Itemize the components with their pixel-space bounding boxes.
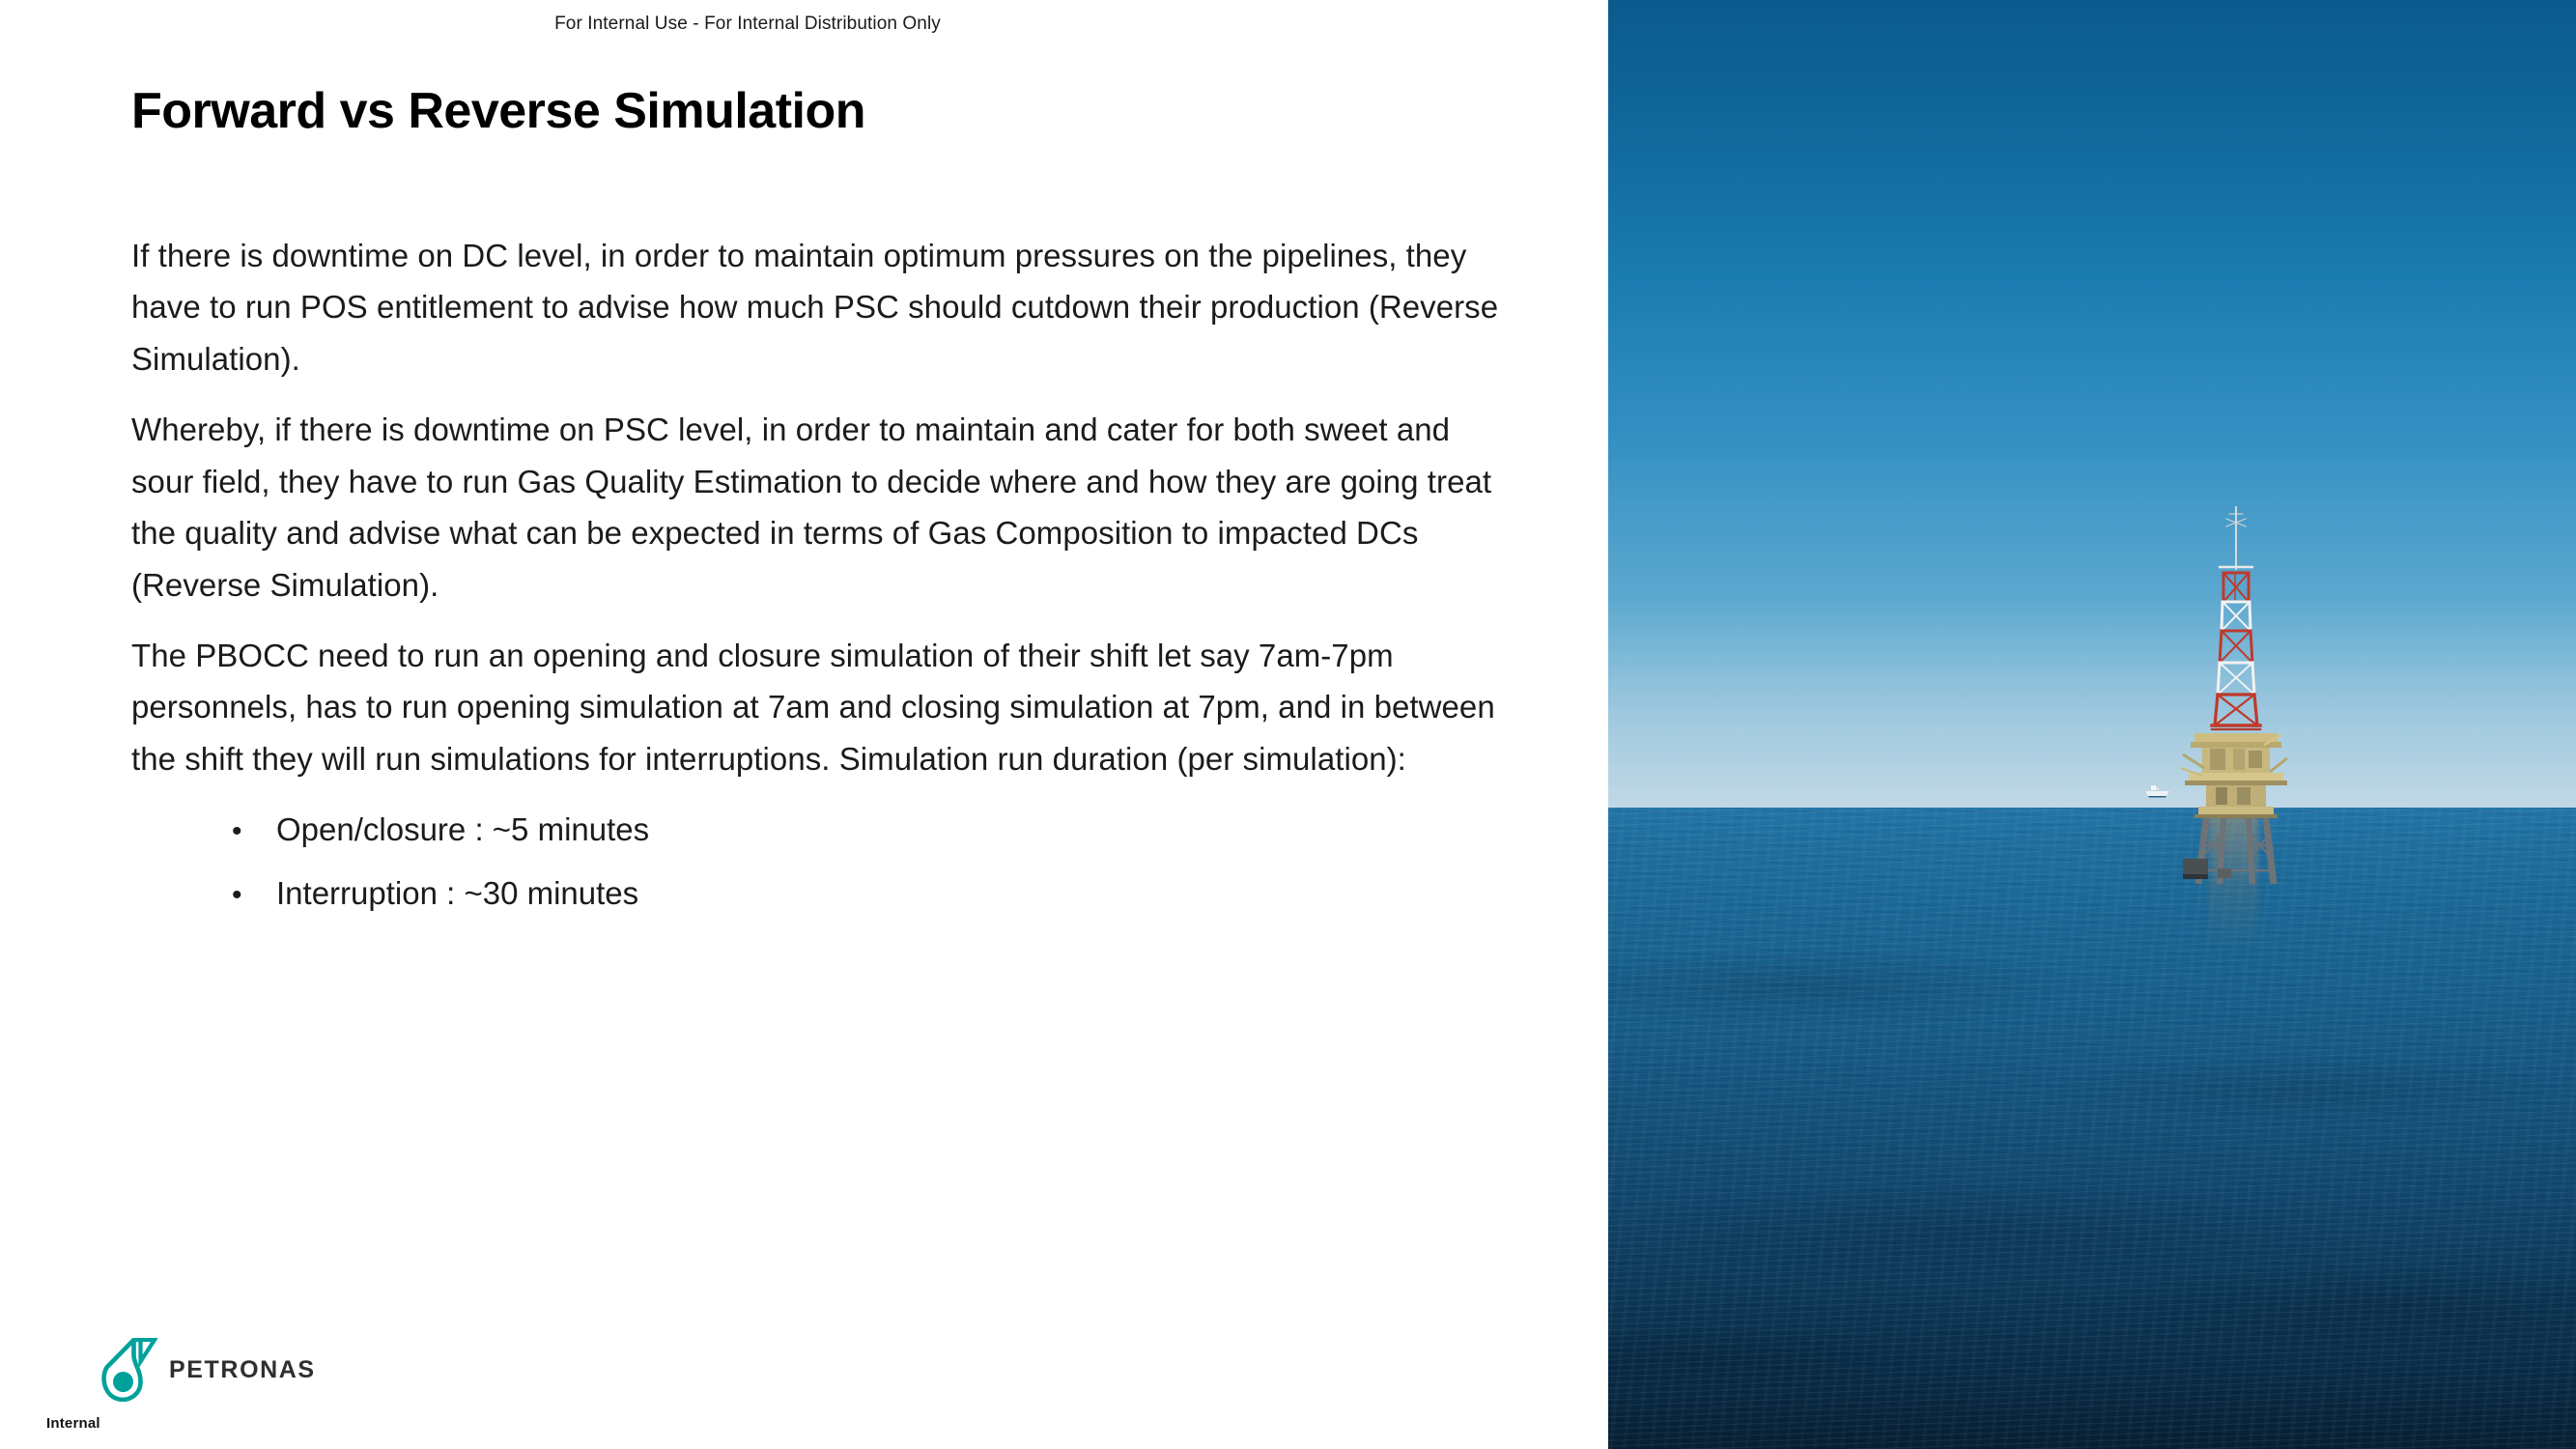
supply-boat-icon xyxy=(2143,784,2172,800)
petronas-wordmark: PETRONAS xyxy=(169,1356,316,1384)
paragraph-pbocc-shift-simulation: The PBOCC need to run an opening and clo… xyxy=(131,630,1513,784)
page-title: Forward vs Reverse Simulation xyxy=(131,83,1513,141)
footer-classification-label: Internal xyxy=(46,1415,100,1432)
bullet-point-icon: • xyxy=(232,810,245,853)
oil-platform-structure xyxy=(2173,505,2299,892)
sea-region xyxy=(1608,808,2576,1449)
body-content: If there is downtime on DC level, in ord… xyxy=(131,230,1513,918)
list-item: • Open/closure : ~5 minutes xyxy=(131,806,1513,854)
bullet-label-open-closure: Open/closure : ~5 minutes xyxy=(276,806,649,854)
list-item: • Interruption : ~30 minutes xyxy=(131,869,1513,918)
classification-header: For Internal Use - For Internal Distribu… xyxy=(0,14,1495,35)
bullet-label-interruption: Interruption : ~30 minutes xyxy=(276,869,638,918)
bullet-point-icon: • xyxy=(232,873,245,917)
paragraph-reverse-simulation-psc: Whereby, if there is downtime on PSC lev… xyxy=(131,404,1513,611)
slide-root: For Internal Use - For Internal Distribu… xyxy=(0,0,2576,1449)
content-column: Forward vs Reverse Simulation If there i… xyxy=(131,83,1513,932)
petronas-logo: PETRONAS xyxy=(101,1338,316,1402)
petronas-droplet-icon xyxy=(101,1338,157,1402)
paragraph-reverse-simulation-dc: If there is downtime on DC level, in ord… xyxy=(131,230,1513,384)
sea-ripple-texture xyxy=(1608,808,2576,1449)
run-duration-bullet-list: • Open/closure : ~5 minutes • Interrupti… xyxy=(131,806,1513,917)
horizon-haze xyxy=(1608,599,2576,808)
offshore-oil-platform-photo xyxy=(1608,0,2576,1449)
